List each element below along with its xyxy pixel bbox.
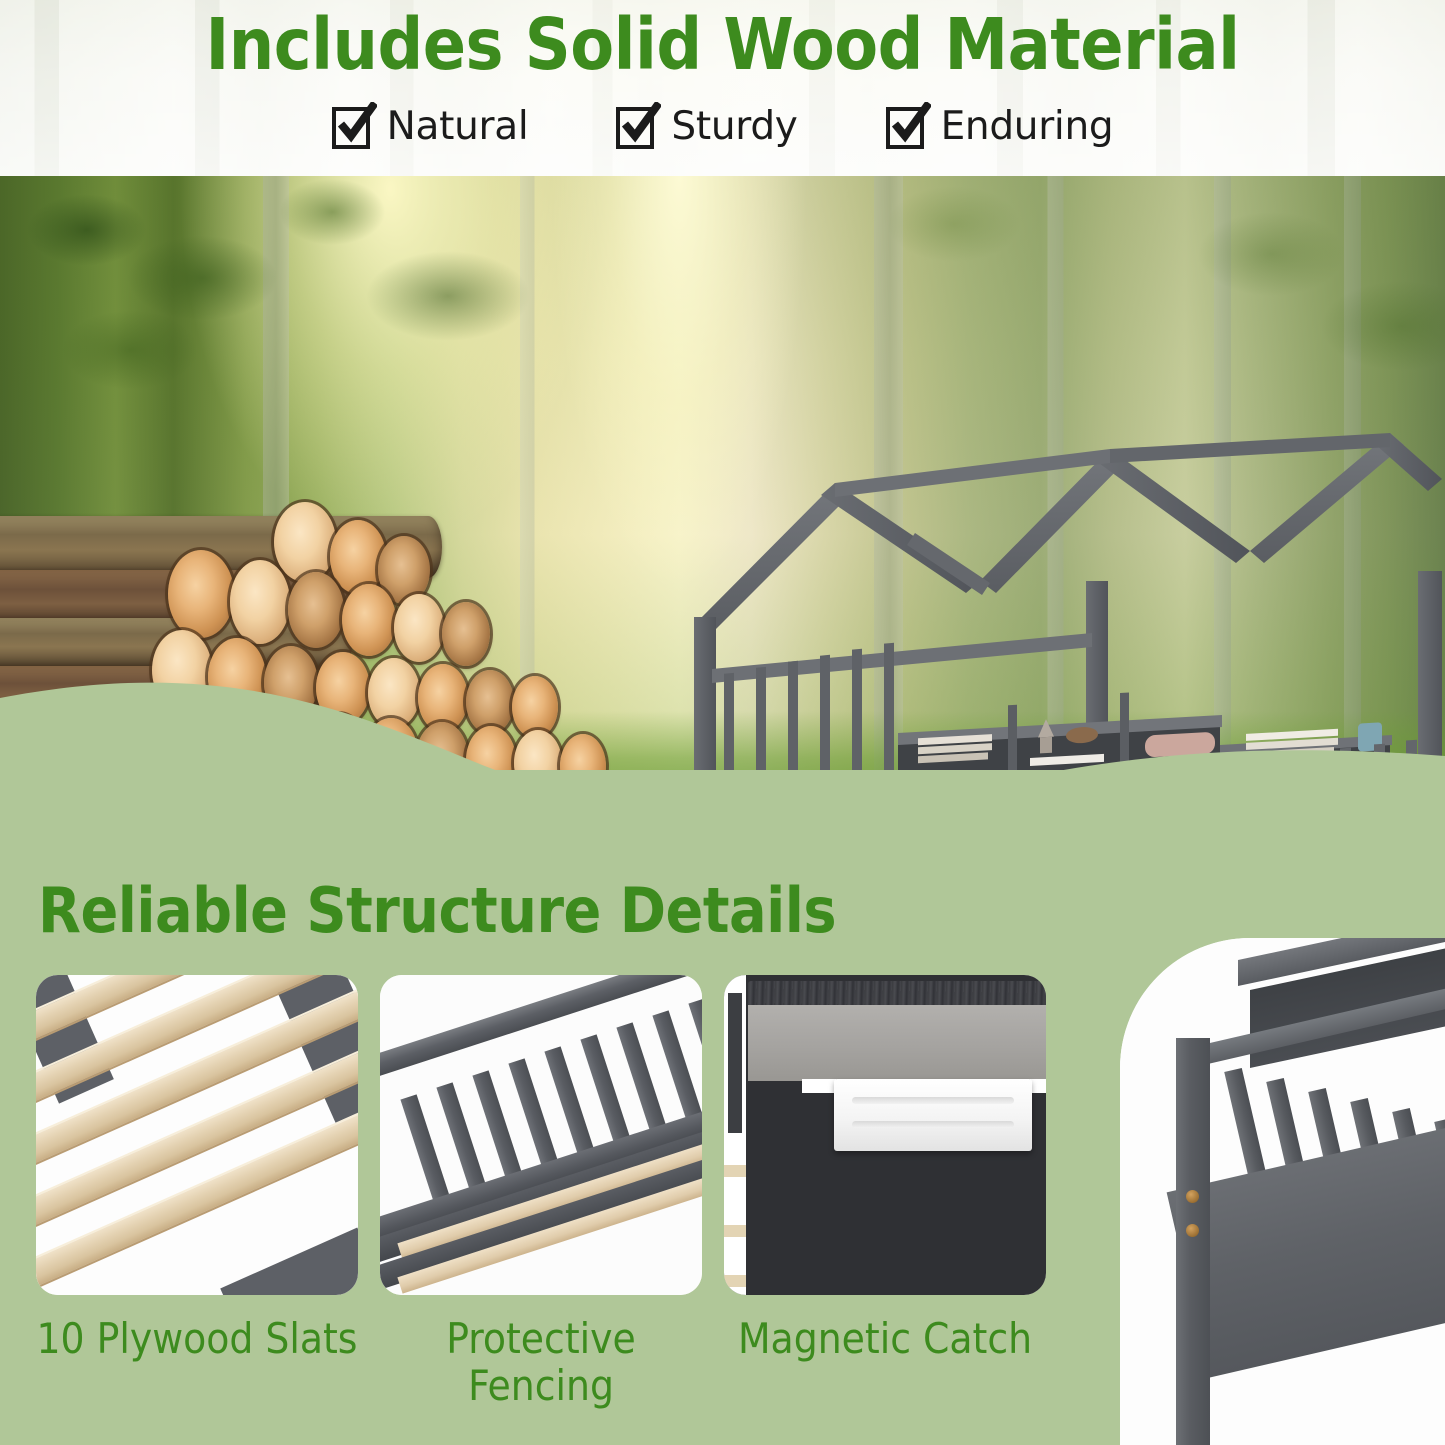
detail-cards [36, 975, 1046, 1300]
bed-roof-frame [698, 433, 1442, 633]
drawer-top-texture [748, 981, 1046, 1007]
screw-icon [1186, 1190, 1199, 1203]
card-label-protective-fencing: Protective Fencing [380, 1315, 702, 1435]
feature-label-natural: Natural [387, 107, 529, 146]
feature-item-enduring: Enduring [886, 103, 1114, 149]
checkbox-checked-icon [332, 103, 374, 149]
catch-flange-right [1030, 1079, 1046, 1093]
side-inner-dark [728, 993, 742, 1133]
side-wood-slat [724, 1165, 746, 1177]
checkbox-checked-icon [616, 103, 658, 149]
bed-corner-closeup-panel [1120, 938, 1445, 1445]
detail-card-plywood-slats [36, 975, 358, 1295]
detail-card-protective-fencing [380, 975, 702, 1295]
feature-label-sturdy: Sturdy [671, 107, 797, 146]
checkbox-checked-icon [886, 103, 928, 149]
card-label-plywood-slats: 10 Plywood Slats [36, 1315, 358, 1435]
feature-item-sturdy: Sturdy [616, 103, 797, 149]
header-banner: Includes Solid Wood Material Natural [0, 0, 1445, 178]
magnetic-catch-hardware [834, 1079, 1032, 1151]
feature-checklist: Natural Sturdy Enduring [0, 103, 1445, 149]
section-title: Reliable Structure Details [38, 880, 836, 942]
page-headline: Includes Solid Wood Material [0, 9, 1445, 80]
magnetic-catch-side-edge [724, 975, 746, 1295]
catch-flange-left [802, 1079, 836, 1093]
closeup-corner-post [1176, 1038, 1210, 1445]
detail-card-labels: 10 Plywood Slats Protective Fencing Magn… [36, 1315, 1046, 1435]
feature-label-enduring: Enduring [941, 107, 1114, 146]
side-wood-slat [724, 1275, 746, 1287]
detail-card-magnetic-catch [724, 975, 1046, 1295]
side-wood-slat [724, 1225, 746, 1237]
hero-forest-photo [0, 176, 1445, 828]
feature-item-natural: Natural [332, 103, 529, 149]
card-label-magnetic-catch: Magnetic Catch [724, 1315, 1046, 1435]
drawer-front-panel [748, 1005, 1046, 1081]
product-marketing-page: Includes Solid Wood Material Natural [0, 0, 1445, 1445]
screw-icon [1186, 1224, 1199, 1237]
